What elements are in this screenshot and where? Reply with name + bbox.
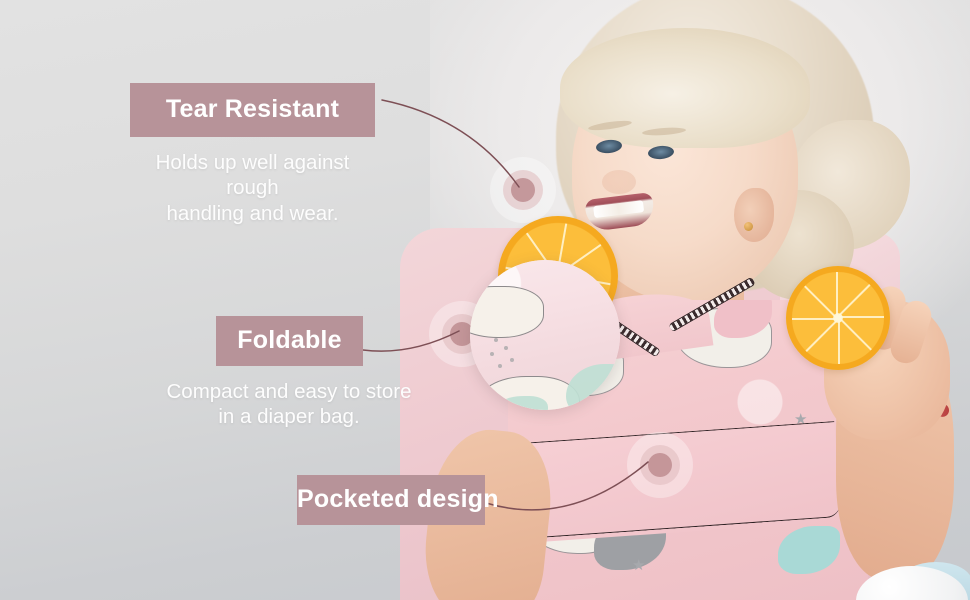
unicorn-motif <box>470 286 544 338</box>
unicorn-mane <box>778 526 840 574</box>
teeth <box>593 200 644 218</box>
orange-slice <box>786 266 890 370</box>
nose <box>602 170 636 194</box>
product-feature-image: ★ ★ ★ <box>0 0 970 600</box>
texture-dot <box>510 358 514 362</box>
earring <box>744 222 753 231</box>
marker-mid-ring <box>503 170 543 210</box>
callout-marker-tear-resistant[interactable] <box>490 157 556 223</box>
texture-dot <box>504 346 508 350</box>
fabric-closeup-magnifier <box>470 260 620 410</box>
callout-title-tear-resistant: Tear Resistant <box>130 83 375 137</box>
marker-mid-ring <box>640 445 680 485</box>
callout-caption-foldable: Compact and easy to store in a diaper ba… <box>163 379 415 430</box>
texture-dot <box>498 364 502 368</box>
callout-marker-pocketed-design[interactable] <box>627 432 693 498</box>
ear <box>734 188 774 242</box>
callout-pocketed-design: Pocketed design <box>297 475 485 525</box>
callout-caption-tear-resistant: Holds up well against rough handling and… <box>130 150 375 226</box>
marker-core-dot <box>648 453 672 477</box>
callout-foldable: Foldable Compact and easy to store in a … <box>216 316 363 430</box>
texture-dot <box>494 338 498 342</box>
callout-title-foldable: Foldable <box>216 316 363 366</box>
texture-dot <box>490 352 494 356</box>
callout-title-pocketed-design: Pocketed design <box>297 475 485 525</box>
star-motif: ★ <box>632 558 645 573</box>
marker-core-dot <box>511 178 535 202</box>
callout-tear-resistant: Tear Resistant Holds up well against rou… <box>130 83 375 226</box>
